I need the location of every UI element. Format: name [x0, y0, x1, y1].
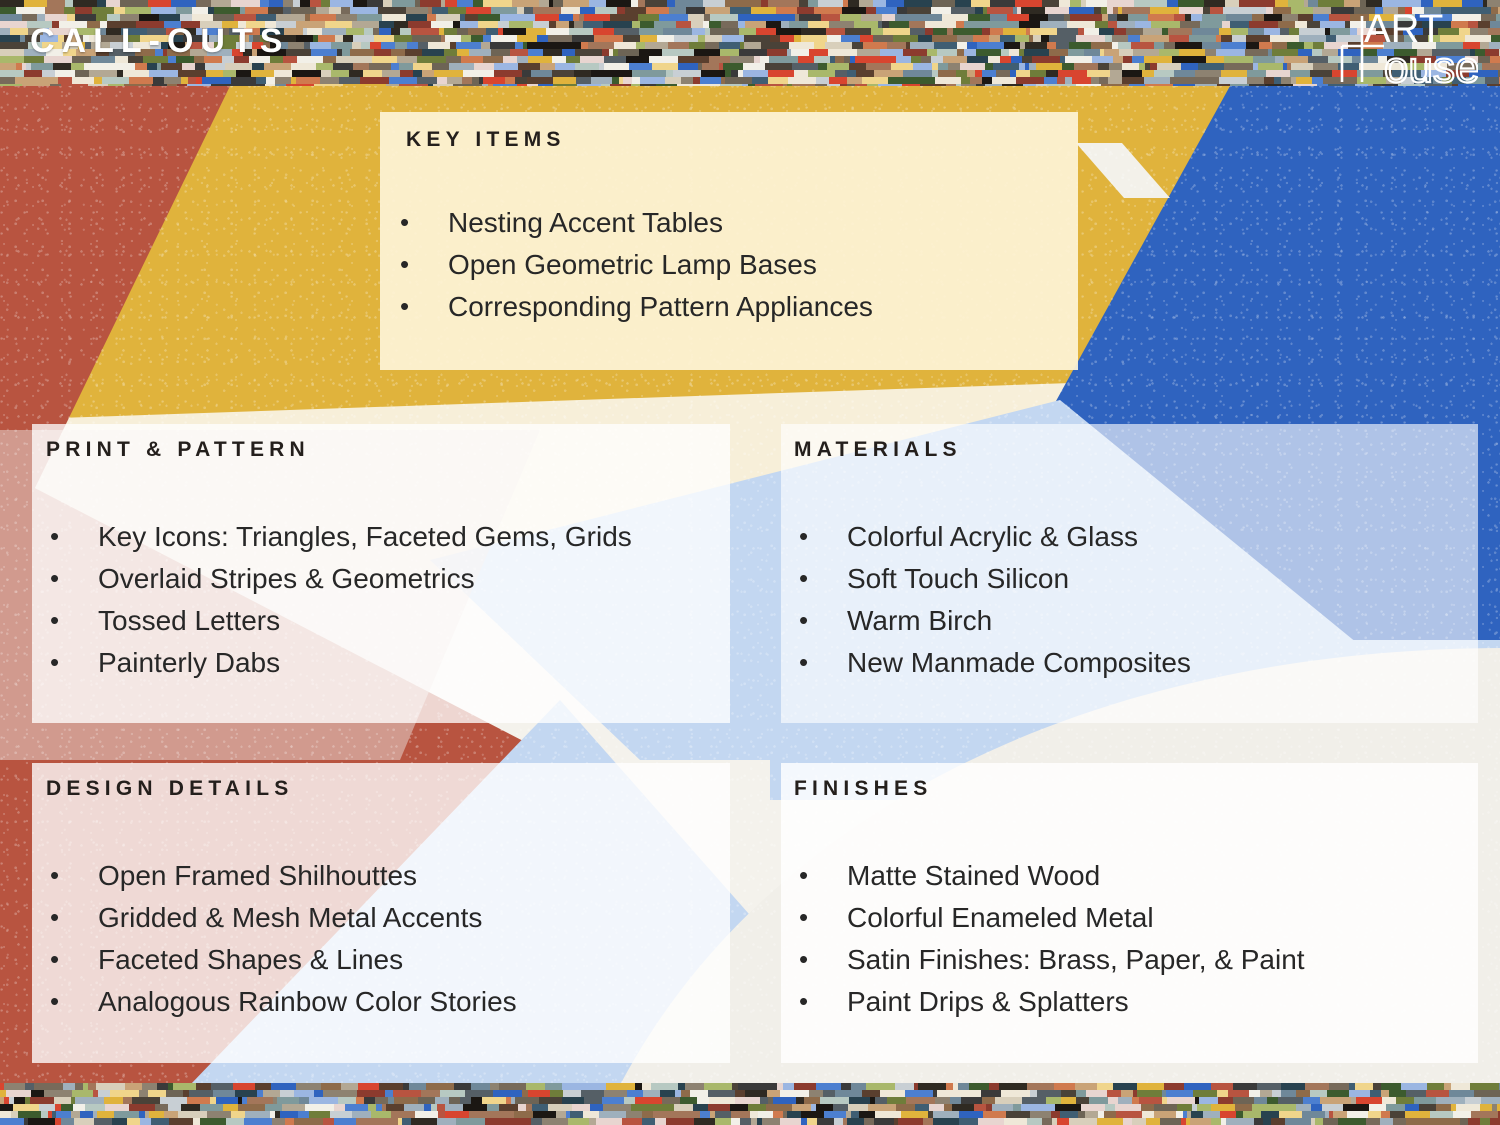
list-item: Matte Stained Wood — [791, 855, 1305, 897]
list-item: Nesting Accent Tables — [392, 202, 873, 244]
list-item: Painterly Dabs — [42, 642, 632, 684]
panel-title-materials: MATERIALS — [794, 438, 962, 462]
list-item: Open Geometric Lamp Bases — [392, 244, 873, 286]
list-item: Warm Birch — [791, 600, 1191, 642]
panel-list-print-pattern: Key Icons: Triangles, Faceted Gems, Grid… — [42, 516, 632, 684]
page-title: CALL-OUTS — [30, 22, 289, 61]
logo-house-text: ouse — [1384, 43, 1478, 86]
list-item: Satin Finishes: Brass, Paper, & Paint — [791, 939, 1305, 981]
panel-list-materials: Colorful Acrylic & Glass Soft Touch Sili… — [791, 516, 1191, 684]
list-item: Open Framed Shilhouttes — [42, 855, 517, 897]
panel-title-design-details: DESIGN DETAILS — [46, 777, 293, 801]
list-item: Colorful Acrylic & Glass — [791, 516, 1191, 558]
list-item: New Manmade Composites — [791, 642, 1191, 684]
list-item: Overlaid Stripes & Geometrics — [42, 558, 632, 600]
callout-panel-print-pattern: PRINT & PATTERN Key Icons: Triangles, Fa… — [32, 424, 730, 723]
list-item: Key Icons: Triangles, Faceted Gems, Grid… — [42, 516, 632, 558]
callout-panel-key-items: KEY ITEMS Nesting Accent Tables Open Geo… — [380, 112, 1078, 370]
list-item: Analogous Rainbow Color Stories — [42, 981, 517, 1023]
list-item: Faceted Shapes & Lines — [42, 939, 517, 981]
panel-list-design-details: Open Framed Shilhouttes Gridded & Mesh M… — [42, 855, 517, 1023]
panel-title-key-items: KEY ITEMS — [406, 128, 566, 152]
callout-panel-materials: MATERIALS Colorful Acrylic & Glass Soft … — [781, 424, 1478, 723]
callout-panel-design-details: DESIGN DETAILS Open Framed Shilhouttes G… — [32, 763, 730, 1063]
panel-title-finishes: FINISHES — [794, 777, 932, 801]
slide-canvas: CALL-OUTS ART ouse KEY ITEMS Nesting Acc… — [0, 0, 1500, 1125]
callout-panel-finishes: FINISHES Matte Stained Wood Colorful Ena… — [781, 763, 1478, 1063]
list-item: Tossed Letters — [42, 600, 632, 642]
list-item: Paint Drips & Splatters — [791, 981, 1305, 1023]
list-item: Soft Touch Silicon — [791, 558, 1191, 600]
art-house-logo: ART ouse — [1328, 2, 1478, 86]
panel-list-finishes: Matte Stained Wood Colorful Enameled Met… — [791, 855, 1305, 1023]
panel-list-key-items: Nesting Accent Tables Open Geometric Lam… — [392, 202, 873, 328]
panel-title-print-pattern: PRINT & PATTERN — [46, 438, 310, 462]
list-item: Gridded & Mesh Metal Accents — [42, 897, 517, 939]
list-item: Colorful Enameled Metal — [791, 897, 1305, 939]
list-item: Corresponding Pattern Appliances — [392, 286, 873, 328]
bottom-mosaic-strip — [0, 1083, 1500, 1125]
